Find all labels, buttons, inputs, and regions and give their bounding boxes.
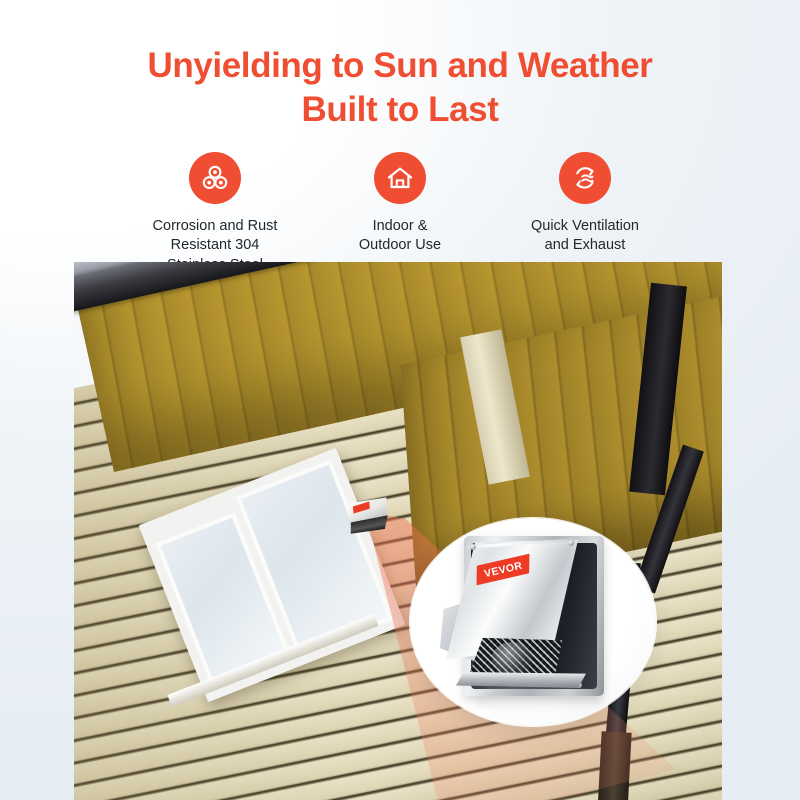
feature-badge-ventilation xyxy=(559,152,611,204)
stainless-alloy-rings-icon xyxy=(200,163,230,193)
product-reflection xyxy=(476,686,602,720)
feature-item-ventilation: Quick Ventilation and Exhaust xyxy=(500,152,670,256)
feature-caption-indoor-outdoor: Indoor & Outdoor Use xyxy=(359,217,441,256)
product-feature-banner: Unyielding to Sun and Weather Built to L… xyxy=(0,0,800,800)
feature-caption-ventilation: Quick Ventilation and Exhaust xyxy=(531,217,639,256)
house-icon xyxy=(385,163,415,193)
vent-damper-flap xyxy=(492,642,532,674)
air-circulation-icon xyxy=(570,163,600,193)
vent-hood-product: VEVOR xyxy=(440,534,616,706)
page-title: Unyielding to Sun and Weather Built to L… xyxy=(0,44,800,132)
vent-screw-top-left xyxy=(470,544,476,550)
feature-item-indoor-outdoor: Indoor & Outdoor Use xyxy=(315,152,485,256)
product-closeup-inset: VEVOR xyxy=(410,518,656,726)
vent-screw-top-right xyxy=(568,540,574,546)
feature-badge-indoor-outdoor xyxy=(374,152,426,204)
feature-list: Corrosion and Rust Resistant 304 Stainle… xyxy=(130,152,670,275)
feature-item-stainless-steel: Corrosion and Rust Resistant 304 Stainle… xyxy=(130,152,300,275)
feature-badge-stainless-steel xyxy=(189,152,241,204)
house-exterior-photo xyxy=(74,262,722,800)
